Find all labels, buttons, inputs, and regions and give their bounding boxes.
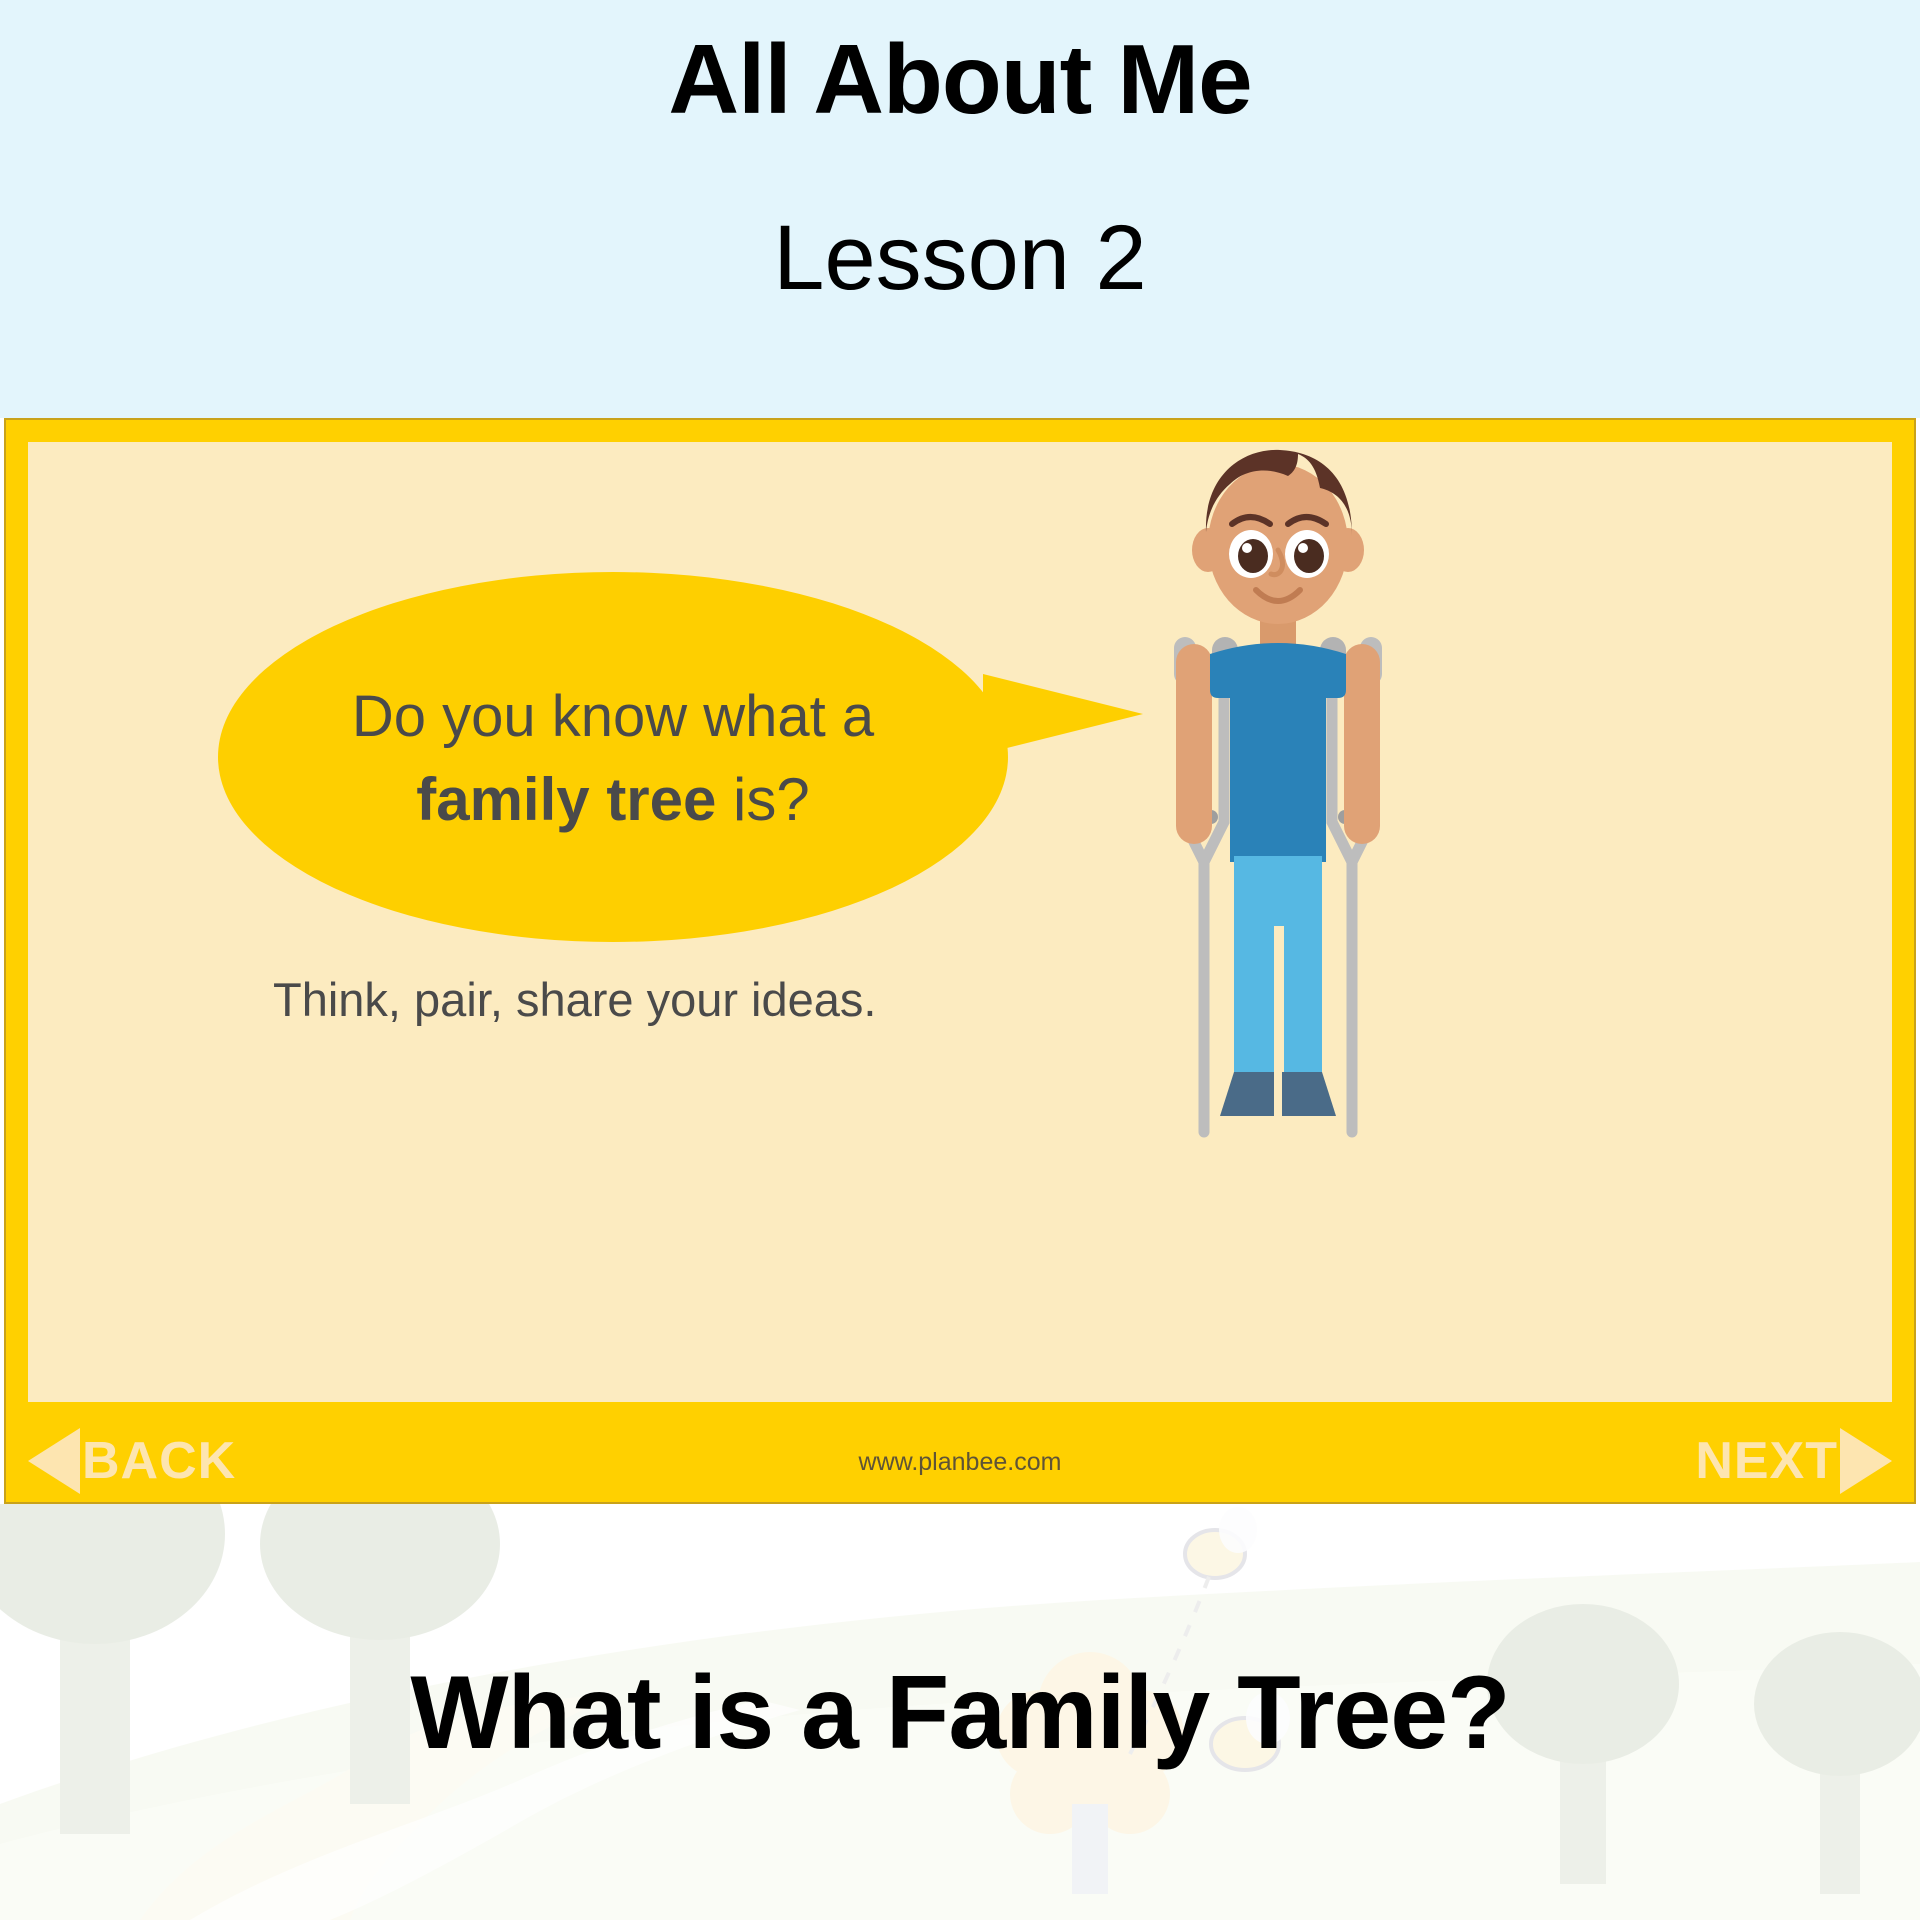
footer-title: What is a Family Tree?	[0, 1654, 1920, 1773]
slide-frame[interactable]: Do you know what a family tree is? Think…	[4, 418, 1916, 1504]
header-banner: All About Me Lesson 2	[0, 0, 1920, 418]
page-title: All About Me	[0, 28, 1920, 131]
speech-line-1: Do you know what a	[278, 680, 948, 754]
boy-with-crutches-illustration	[1148, 442, 1408, 1162]
next-button-label: NEXT	[1695, 1435, 1838, 1487]
slide-content-area: Do you know what a family tree is? Think…	[28, 442, 1892, 1402]
slide-preview-page: All About Me Lesson 2 Do you know what a…	[0, 0, 1920, 1920]
arrow-right-icon	[1840, 1428, 1892, 1494]
speech-bubble-text: Do you know what a family tree is?	[278, 680, 948, 839]
speech-line-2-tail: is?	[716, 766, 809, 833]
speech-bubble-tail-icon	[983, 674, 1143, 754]
next-button[interactable]: NEXT	[1695, 1428, 1892, 1494]
slide-navigation-bar: BACK www.planbee.com NEXT	[6, 1420, 1914, 1502]
lesson-subtitle: Lesson 2	[0, 210, 1920, 307]
think-pair-share-text: Think, pair, share your ideas.	[273, 972, 876, 1027]
speech-term-family-tree: family tree	[416, 766, 716, 833]
speech-bubble: Do you know what a family tree is?	[218, 572, 1008, 942]
planbee-url: www.planbee.com	[6, 1448, 1914, 1477]
footer-banner: What is a Family Tree?	[0, 1504, 1920, 1920]
speech-line-2: family tree is?	[278, 762, 948, 839]
